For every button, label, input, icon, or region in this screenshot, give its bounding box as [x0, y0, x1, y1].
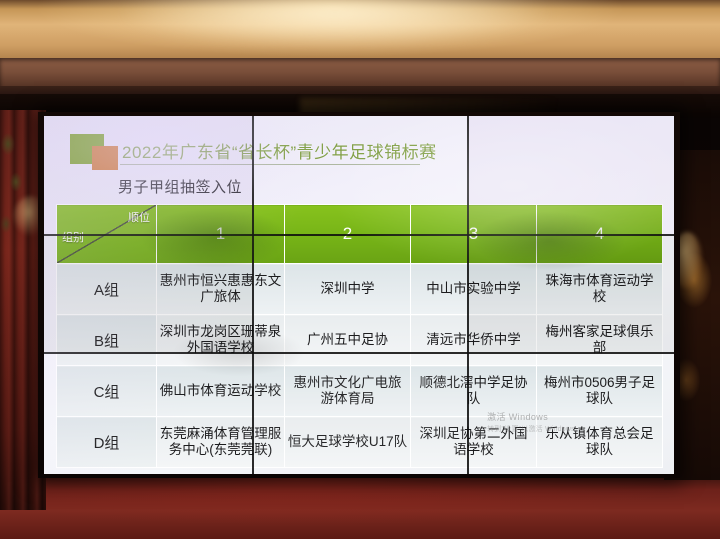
team-cell: 梅州客家足球俱乐部	[537, 315, 663, 366]
team-cell: 深圳中学	[285, 264, 411, 315]
header-col-3: 3	[411, 205, 537, 264]
team-cell: 广州五中足协	[285, 315, 411, 366]
team-cell: 深圳足协第二外国语学校	[411, 417, 537, 468]
group-label-b: B组	[57, 315, 157, 366]
table-row: B组 深圳市龙岗区珊蒂泉外国语学校 广州五中足协 清远市华侨中学 梅州客家足球俱…	[57, 315, 663, 366]
team-cell: 深圳市龙岗区珊蒂泉外国语学校	[157, 315, 285, 366]
team-cell: 清远市华侨中学	[411, 315, 537, 366]
table-row: D组 东莞麻涌体育管理服务中心(东莞莞联) 恒大足球学校U17队 深圳足协第二外…	[57, 417, 663, 468]
team-cell: 惠州市恒兴惠惠东文广旅体	[157, 264, 285, 315]
table-row: C组 佛山市体育运动学校 惠州市文化广电旅游体育局 顺德北滘中学足协队 梅州市0…	[57, 366, 663, 417]
slide-title: 2022年广东省“省长杯”青少年足球锦标赛	[122, 138, 437, 163]
header-col-4: 4	[537, 205, 663, 264]
group-label-d: D组	[57, 417, 157, 468]
header-group-label: 组别	[62, 229, 84, 245]
team-cell: 佛山市体育运动学校	[157, 366, 285, 417]
team-cell: 顺德北滘中学足协队	[411, 366, 537, 417]
header-rank-label: 顺位	[128, 209, 150, 225]
team-cell: 乐从镇体育总会足球队	[537, 417, 663, 468]
team-cell: 惠州市文化广电旅游体育局	[285, 366, 411, 417]
header-col-2: 2	[285, 205, 411, 264]
team-cell: 珠海市体育运动学校	[537, 264, 663, 315]
video-wall-screen: 2022年广东省“省长杯”青少年足球锦标赛 男子甲组抽签入位 顺位	[44, 116, 674, 474]
table-header-row: 顺位 组别 1 2 3 4	[57, 205, 663, 264]
slide-subtitle: 男子甲组抽签入位	[118, 176, 242, 197]
photo-of-projection-screen: 2022年广东省“省长杯”青少年足球锦标赛 男子甲组抽签入位 顺位	[0, 0, 720, 539]
header-col-1: 1	[157, 205, 285, 264]
ceiling-light-glow	[120, 0, 550, 46]
team-cell: 中山市实验中学	[411, 264, 537, 315]
team-cell: 东莞麻涌体育管理服务中心(东莞莞联)	[157, 417, 285, 468]
draw-table: 顺位 组别 1 2 3 4 A组 惠州市恒兴惠惠东文广旅体 深圳中学 中山	[56, 204, 663, 468]
team-cell: 恒大足球学校U17队	[285, 417, 411, 468]
presentation-slide: 2022年广东省“省长杯”青少年足球锦标赛 男子甲组抽签入位 顺位	[44, 116, 674, 474]
group-label-c: C组	[57, 366, 157, 417]
left-plant	[0, 120, 26, 270]
title-underline	[120, 164, 420, 165]
red-carpet-floor	[0, 476, 720, 539]
team-cell: 梅州市0506男子足球队	[537, 366, 663, 417]
header-corner-cell: 顺位 组别	[57, 205, 157, 264]
logo-orange-square	[92, 146, 118, 170]
group-label-a: A组	[57, 264, 157, 315]
table-row: A组 惠州市恒兴惠惠东文广旅体 深圳中学 中山市实验中学 珠海市体育运动学校	[57, 264, 663, 315]
